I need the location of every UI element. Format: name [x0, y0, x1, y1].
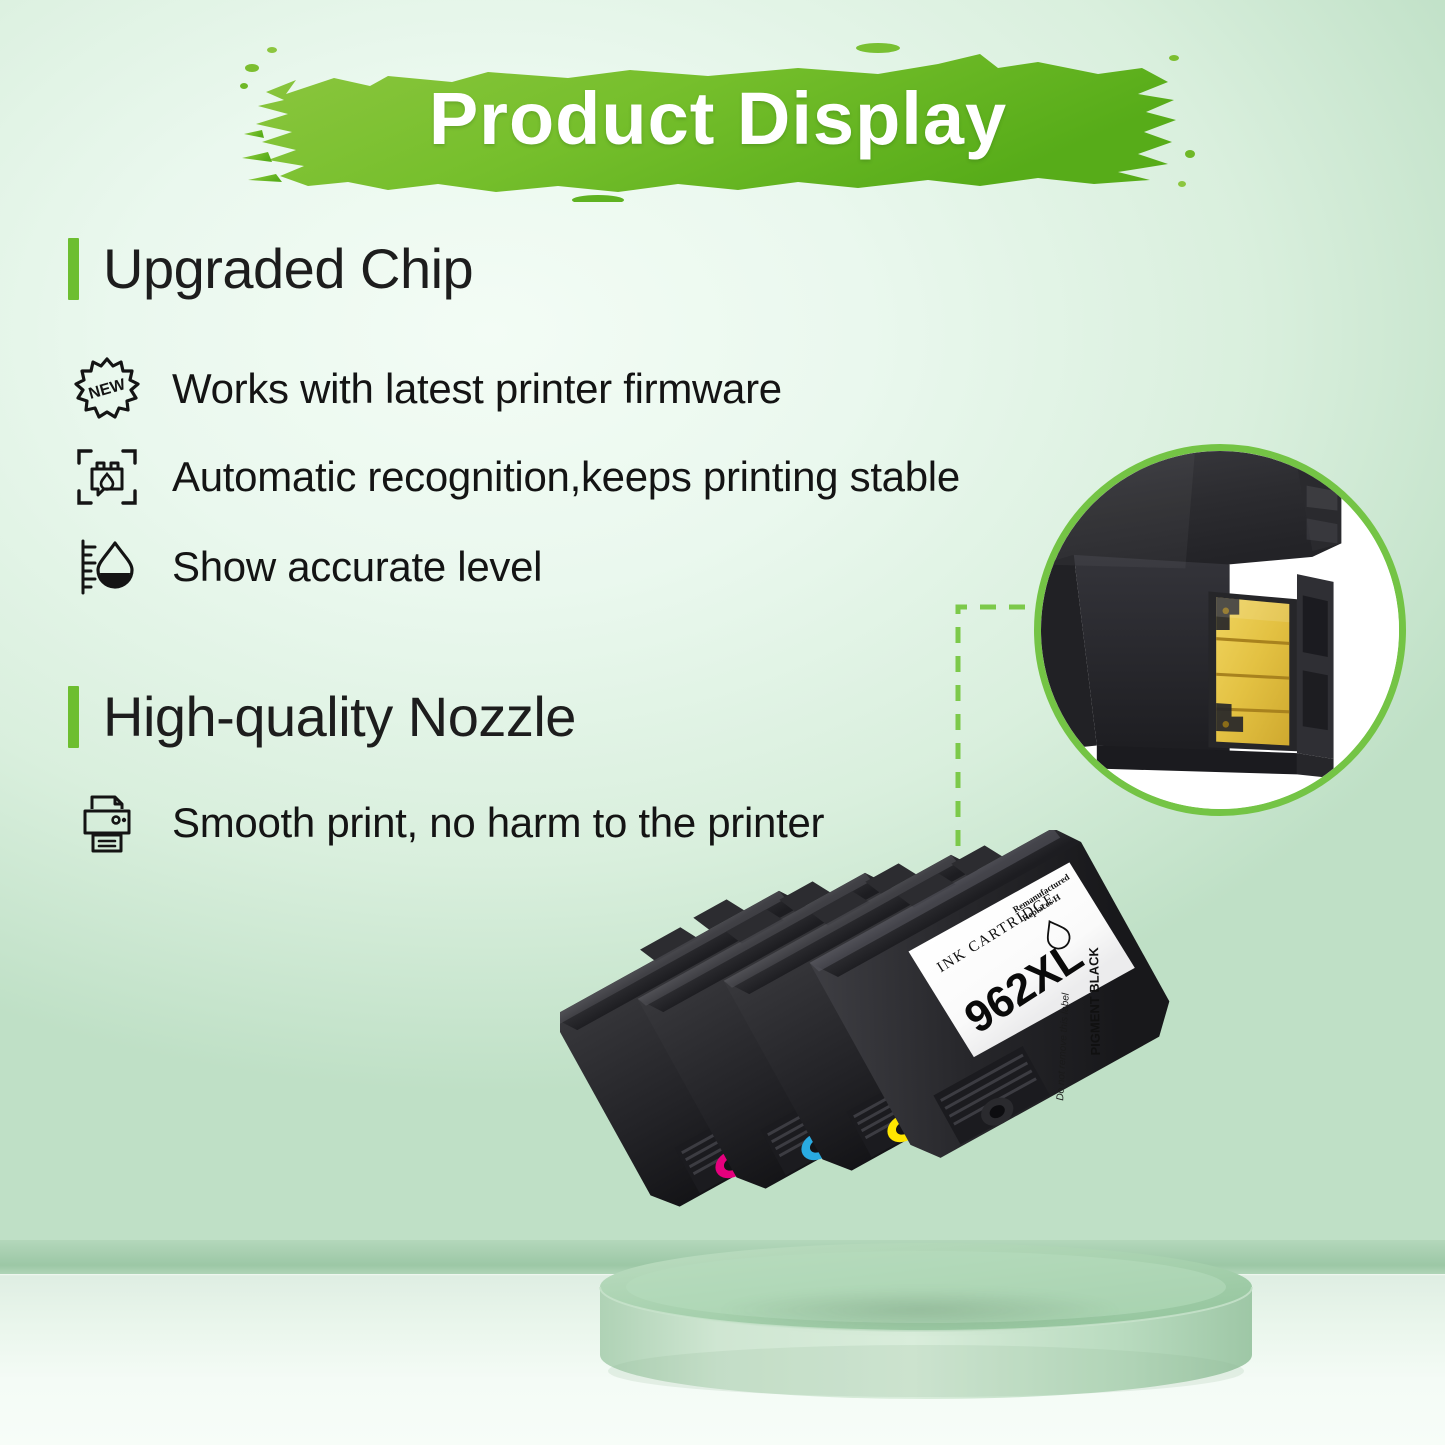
section-heading-high-quality-nozzle: High-quality Nozzle [68, 684, 576, 749]
ink-level-gauge-icon [70, 530, 144, 604]
feature-bullet-level: Show accurate level [70, 530, 542, 604]
chip-closeup-magnifier [1034, 444, 1406, 816]
heading-text: Upgraded Chip [103, 236, 473, 301]
section-heading-upgraded-chip: Upgraded Chip [68, 236, 473, 301]
feature-bullet-recognition: Automatic recognition,keeps printing sta… [70, 440, 960, 514]
feature-bullet-firmware: NEW Works with latest printer firmware [70, 352, 782, 426]
heading-accent-bar [68, 238, 79, 300]
new-badge-icon: NEW [70, 352, 144, 426]
feature-bullet-text: Works with latest printer firmware [172, 365, 782, 413]
heading-accent-bar [68, 686, 79, 748]
banner-title: Product Display [238, 34, 1198, 202]
svg-text:NEW: NEW [87, 376, 128, 403]
label-ink-type: PIGMENT BLACK [1086, 946, 1103, 1055]
cartridge-scan-icon [70, 440, 144, 514]
printer-icon [70, 786, 144, 860]
product-display-canvas: Product Display Upgraded Chip NEW Works … [0, 0, 1445, 1445]
heading-text: High-quality Nozzle [103, 684, 576, 749]
header-banner: Product Display [238, 34, 1198, 202]
chip-closeup-image [1041, 451, 1399, 809]
cartridge-stack: INK CARTRIDGE Remanufactured Replaces H … [560, 830, 1300, 1330]
feature-bullet-text: Show accurate level [172, 543, 542, 591]
feature-bullet-text: Automatic recognition,keeps printing sta… [172, 453, 960, 501]
